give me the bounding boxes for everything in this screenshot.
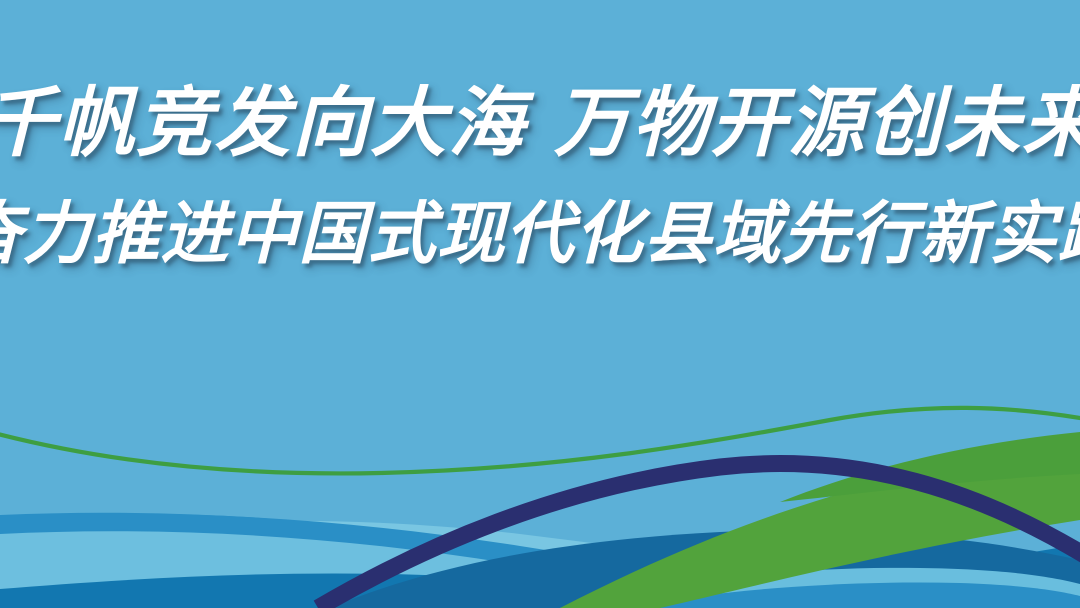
headline-line-1: 千帆竞发向大海万物开源创未来 xyxy=(0,86,1080,162)
banner-poster: 千帆竞发向大海万物开源创未来 奋力推进中国式现代化县域先行新实践 xyxy=(0,0,1080,608)
headline-block: 千帆竞发向大海万物开源创未来 奋力推进中国式现代化县域先行新实践 xyxy=(0,0,1080,400)
headline-line-1-part-2: 万物开源创未来 xyxy=(554,82,1080,166)
headline-line-2: 奋力推进中国式现代化县域先行新实践 xyxy=(0,200,1080,268)
headline-line-1-part-1: 千帆竞发向大海 xyxy=(0,82,526,166)
